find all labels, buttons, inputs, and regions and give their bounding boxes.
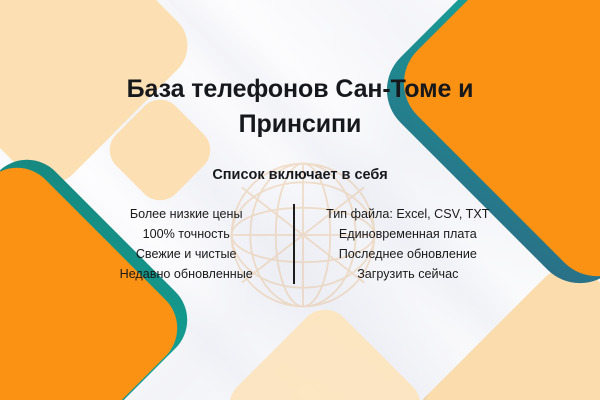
page-title: База телефонов Сан-Томе и Принсипи	[85, 72, 515, 141]
list-item: Свежие и чистые	[97, 244, 275, 264]
banner-content: База телефонов Сан-Томе и Принсипи Списо…	[0, 0, 600, 400]
list-item: 100% точность	[97, 224, 275, 244]
feature-lists: Более низкие цены 100% точность Свежие и…	[97, 204, 503, 284]
list-item: Загрузить сейчас	[313, 264, 503, 284]
list-item: Последнее обновление	[313, 244, 503, 264]
subtitle: Список включает в себя	[212, 167, 387, 183]
list-item: Тип файла: Excel, CSV, TXT	[313, 204, 503, 224]
list-item: Недавно обновленные	[97, 264, 275, 284]
promo-banner: База телефонов Сан-Томе и Принсипи Списо…	[0, 0, 600, 400]
list-item: Единовременная плата	[313, 224, 503, 244]
list-item: Более низкие цены	[97, 204, 275, 224]
feature-list-right: Тип файла: Excel, CSV, TXT Единовременна…	[295, 204, 503, 284]
feature-list-left: Более низкие цены 100% точность Свежие и…	[97, 204, 293, 284]
